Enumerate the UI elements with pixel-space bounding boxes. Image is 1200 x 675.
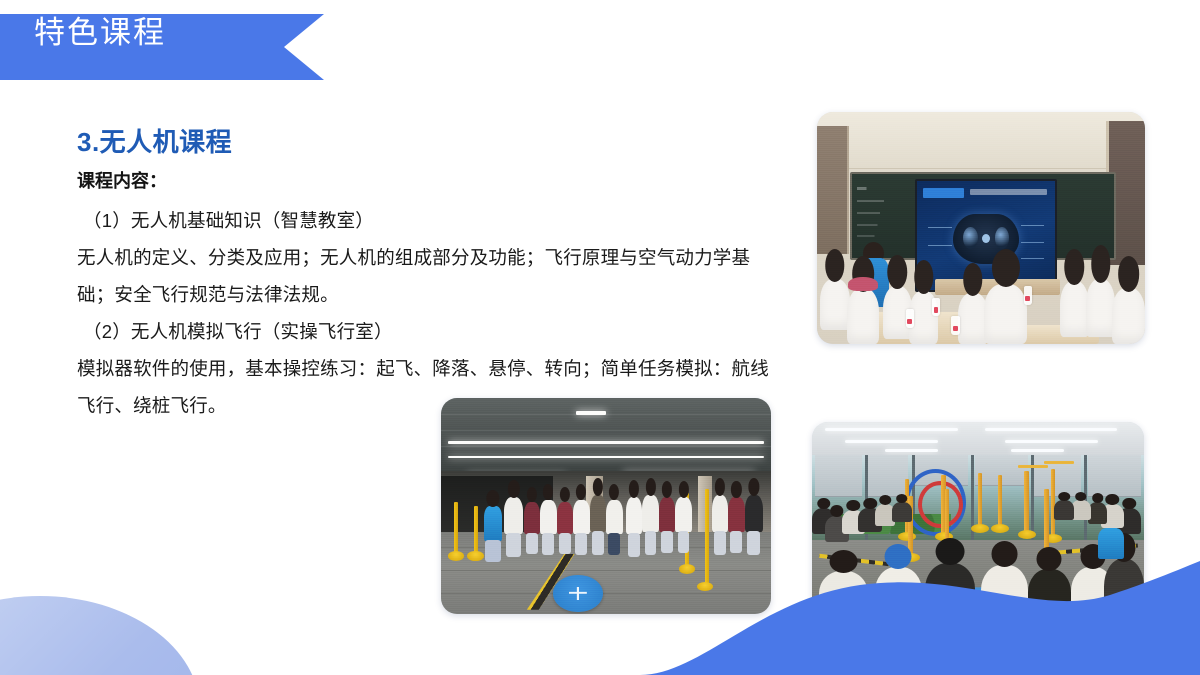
content-column: 3.无人机课程 课程内容： （1）无人机基础知识（智慧教室） 无人机的定义、分类…: [77, 128, 777, 424]
course-content-label: 课程内容：: [77, 171, 777, 193]
item-1-body: 无人机的定义、分类及应用；无人机的组成部分及功能；飞行原理与空气动力学基础；安全…: [77, 239, 777, 313]
classroom-display: [915, 179, 1057, 292]
flight-room-photo: [812, 422, 1144, 618]
slide-canvas: 特色课程 3.无人机课程 课程内容： （1）无人机基础知识（智慧教室） 无人机的…: [0, 0, 1200, 675]
bottom-left-blob: [0, 596, 200, 675]
item-2-heading: （2）无人机模拟飞行（实操飞行室）: [77, 313, 777, 350]
page-title: 3.无人机课程: [77, 128, 777, 157]
smart-classroom-photo: [817, 112, 1145, 344]
floor-marker: [553, 575, 603, 612]
banner-title: 特色课程: [34, 0, 166, 66]
item-1-heading: （1）无人机基础知识（智慧教室）: [77, 202, 777, 239]
flight-hall-photo: [441, 398, 771, 614]
